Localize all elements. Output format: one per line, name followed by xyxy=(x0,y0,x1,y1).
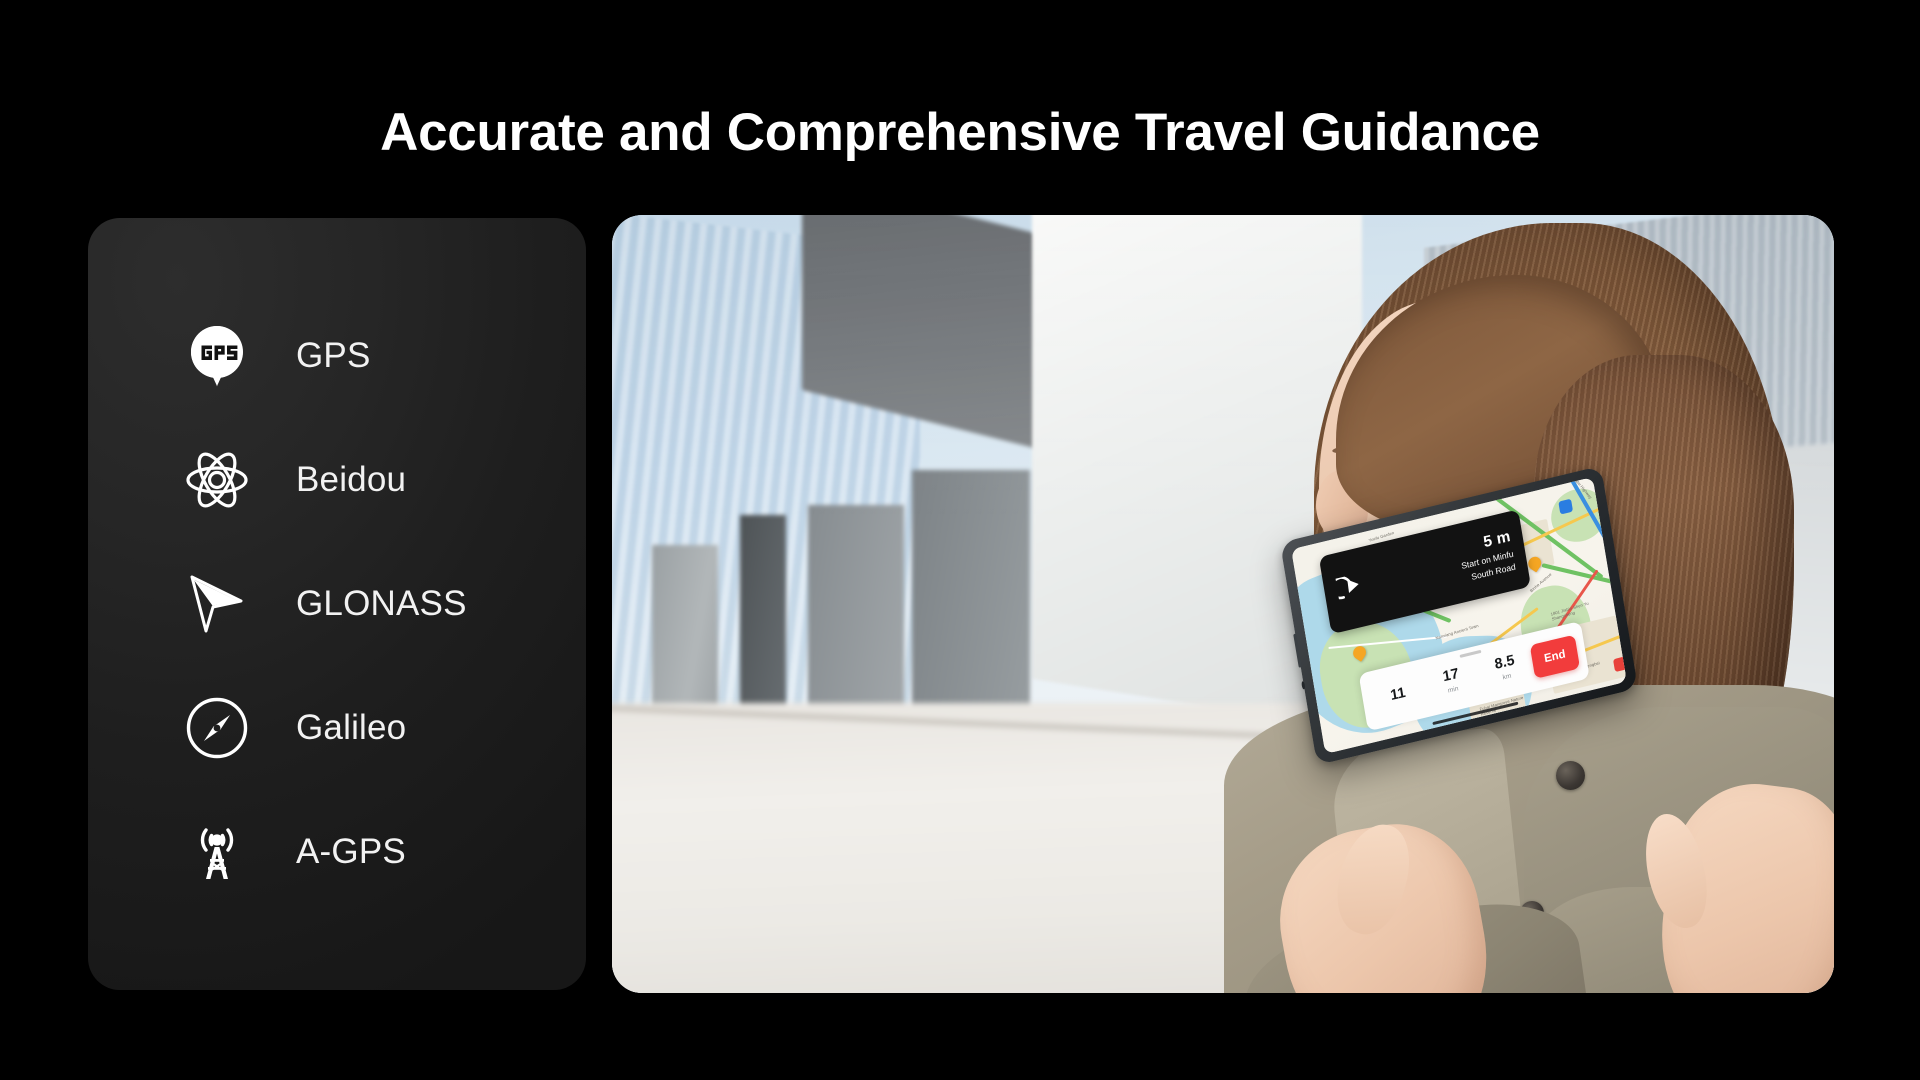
coat-button xyxy=(1556,761,1585,790)
feature-item-agps[interactable]: A-GPS xyxy=(184,790,586,914)
feature-item-galileo[interactable]: Galileo xyxy=(184,666,586,790)
feature-label-beidou: Beidou xyxy=(296,460,406,500)
feature-label-glonass: GLONASS xyxy=(296,584,467,624)
drag-handle[interactable] xyxy=(1460,650,1482,658)
page-title: Accurate and Comprehensive Travel Guidan… xyxy=(0,104,1920,162)
camera-dot-icon xyxy=(1301,681,1305,690)
person-figure: Yuefu Garden Gucun Park Nanxiang Ancient… xyxy=(1104,215,1834,993)
feature-item-beidou[interactable]: Beidou xyxy=(184,418,586,542)
eta-arrival-time: 11 xyxy=(1370,681,1426,708)
feature-label-gps: GPS xyxy=(296,336,371,376)
gps-pin-icon xyxy=(184,323,250,389)
end-navigation-button[interactable]: End xyxy=(1530,635,1580,679)
turn-right-arrow-icon xyxy=(1332,571,1374,608)
feature-label-agps: A-GPS xyxy=(296,832,406,872)
feature-label-galileo: Galileo xyxy=(296,708,406,748)
eta-arrival-value: 11 xyxy=(1370,681,1426,708)
eta-distance: 8.5 km xyxy=(1477,650,1535,688)
eta-duration: 17 min xyxy=(1423,663,1481,701)
slide-root: Accurate and Comprehensive Travel Guidan… xyxy=(0,0,1920,1080)
compass-icon xyxy=(184,695,250,761)
volume-button-icon[interactable] xyxy=(1293,634,1302,668)
gnss-feature-card: GPS Beidou xyxy=(88,218,586,990)
signal-tower-icon xyxy=(184,819,250,885)
navigation-arrow-icon xyxy=(184,571,250,637)
feature-item-glonass[interactable]: GLONASS xyxy=(184,542,586,666)
map-poi-badge-icon[interactable] xyxy=(1613,656,1627,672)
hero-photo-card: Yuefu Garden Gucun Park Nanxiang Ancient… xyxy=(612,215,1834,993)
feature-item-gps[interactable]: GPS xyxy=(184,294,586,418)
gnss-feature-list: GPS Beidou xyxy=(88,218,586,990)
atom-orbit-icon xyxy=(184,447,250,513)
